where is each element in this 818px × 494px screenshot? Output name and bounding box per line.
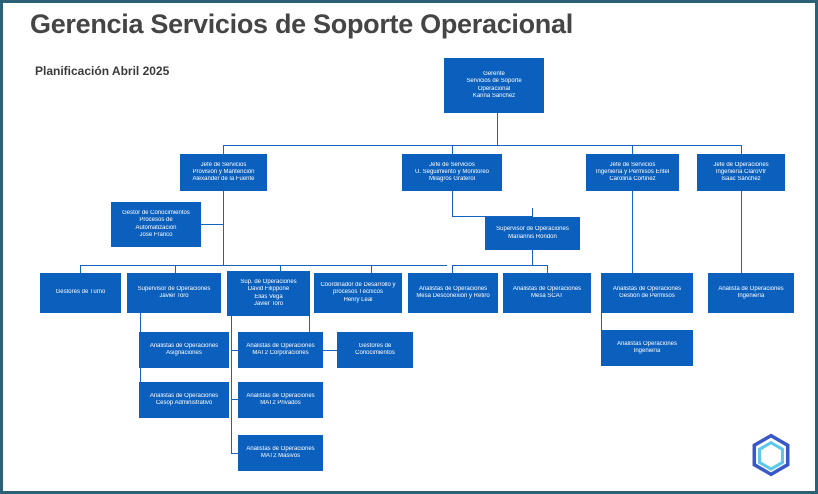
org-chart-canvas: Gerencia Servicios de Soporte Operaciona… [0, 0, 818, 494]
page-subtitle: Planificación Abril 2025 [35, 64, 169, 78]
node-jefe-operaciones-ingenieria-clarovtr[interactable]: Jefe de Operaciones Ingeniería ClaroVtr … [697, 154, 785, 191]
connector-provision-children-bus [80, 265, 447, 266]
hexagon-logo [749, 433, 793, 477]
node-gestor-conocimientos[interactable]: Gestor de Conocimientos Procesos de Auto… [111, 202, 201, 247]
connector-rondon-spine [532, 250, 533, 265]
node-line: Isaac Sánchez [701, 176, 781, 183]
connector-drop-gestores-turno [80, 265, 81, 273]
node-line: Javier Toro [131, 293, 217, 300]
node-line: Analistas de Operaciones [242, 446, 319, 453]
node-line: Analistas de Operaciones [242, 393, 319, 400]
node-line: Analistas de Operaciones [507, 286, 587, 293]
node-line: Ingeniería ClaroVtr [701, 169, 781, 176]
node-line: Provisión y Mantención [184, 169, 263, 176]
node-analistas-gestion-permisos[interactable]: Analistas de Operaciones Gestión de Perm… [601, 273, 693, 313]
node-line: Mariannis Rondon [489, 234, 576, 241]
connector-drop-clarovtr [741, 145, 742, 154]
connector-drop-provision [223, 145, 224, 154]
node-analistas-mat2-privados[interactable]: Analistas de Operaciones MAT2 Privados [238, 382, 323, 418]
connector-drop-coordinador [371, 265, 372, 273]
connector-drop-seguimiento [452, 145, 453, 154]
node-line: Asignaciones [143, 350, 225, 357]
connector-gestor-conocimientos-link [201, 224, 223, 225]
node-gestores-turno[interactable]: Gestores de Turno [40, 273, 121, 313]
node-line: Analistas Operaciones [605, 341, 689, 348]
node-line: Servicios de Soporte [448, 78, 540, 85]
node-analistas-asignaciones[interactable]: Analistas de Operaciones Asignaciones [139, 332, 229, 368]
node-line: Ingeniería [605, 348, 689, 355]
node-line: Mesa Desconexión y Retiro [412, 293, 494, 300]
connector-seguimiento-spine [452, 191, 453, 216]
node-line: Gestores de [341, 343, 409, 350]
node-line: Automatización [115, 225, 197, 232]
node-line: Conocimientos [341, 350, 409, 357]
connector-drop-mesa-desconexion [452, 265, 453, 273]
connector-provision-spine [223, 191, 224, 265]
node-jefe-seguimiento-monitoreo[interactable]: Jefe de Servicios U. Seguimiento y Monit… [402, 154, 502, 191]
connector-drop-mesa-scat [547, 265, 548, 273]
node-line: Analistas de Operaciones [605, 286, 689, 293]
node-analistas-cesop-administrativo[interactable]: Analistas de Operaciones Cesop Administr… [139, 382, 229, 418]
node-analistas-mat2-corporaciones[interactable]: Analistas de Operaciones MAT2 Corporacio… [238, 332, 323, 368]
node-line: Sup. de Operaciones [231, 279, 306, 286]
node-supervisor-operaciones-javier-toro[interactable]: Supervisor de Operaciones Javier Toro [127, 273, 221, 313]
node-line: Analistas de Operaciones [412, 286, 494, 293]
connector-rondon-children-bus [452, 265, 547, 266]
node-line: Henry Leal [318, 297, 398, 304]
node-gerente[interactable]: Gerente Servicios de Soporte Operacional… [444, 58, 544, 113]
node-line: Cesop Administrativo [143, 400, 225, 407]
node-line: Analista de Operaciones [712, 286, 790, 293]
node-jefe-provision-mantencion[interactable]: Jefe de Servicios Provisión y Mantención… [180, 154, 267, 191]
node-line: procesos Técnicos [318, 289, 398, 296]
node-line: Operacional [448, 86, 540, 93]
node-line: Analistas de Operaciones [242, 343, 319, 350]
node-line: Ingeniería [712, 293, 790, 300]
node-line: Jefe de Servicios [184, 162, 263, 169]
node-line: Jefe de Servicios [590, 162, 675, 169]
node-line: U. Seguimiento y Monitoreo [406, 169, 498, 176]
connector-mat2-spine [231, 316, 232, 454]
node-analistas-mat2-masivos[interactable]: Analistas de Operaciones MAT2 Masivos [238, 435, 323, 471]
node-supervisor-operaciones-rondon[interactable]: Supervisor de Operaciones Mariannis Rond… [485, 217, 580, 250]
connector-drop-entel [632, 145, 633, 154]
node-line: Procesos de [115, 217, 197, 224]
node-gestores-conocimientos[interactable]: Gestores de Conocimientos [337, 332, 413, 368]
connector-gerente-stem [497, 113, 498, 145]
node-jefe-ingenieria-permisos-entel[interactable]: Jefe de Servicios Ingeniería y Permisos … [586, 154, 679, 191]
node-line: Carolina Cortinez [590, 176, 675, 183]
node-line: Analistas de Operaciones [143, 393, 225, 400]
node-line: Gerente [448, 71, 540, 78]
node-line: MAT2 Privados [242, 400, 319, 407]
node-line: Analistas de Operaciones [143, 343, 225, 350]
node-sup-operaciones-equipo[interactable]: Sup. de Operaciones David Filippone Elia… [227, 271, 310, 316]
node-line: Ingeniería y Permisos Entel [590, 169, 675, 176]
node-line: Jefe de Servicios [406, 162, 498, 169]
node-line: Supervisor de Operaciones [131, 286, 217, 293]
node-analistas-operaciones-ingenieria-entel[interactable]: Analistas Operaciones Ingeniería [601, 330, 693, 366]
node-line: MAT2 Corporaciones [242, 350, 319, 357]
node-line: Karina Sánchez [448, 93, 540, 100]
connector-level2-bus [223, 145, 741, 146]
node-line: Jose Franco [115, 232, 197, 239]
node-line: Coordinador de Desarrollo y [318, 282, 398, 289]
connector-drop-supervisor-javier [175, 265, 176, 273]
node-line: Elias Vega [231, 294, 306, 301]
node-line: Supervisor de Operaciones [489, 226, 576, 233]
node-line: Milagros Graterol [406, 176, 498, 183]
node-line: Alexander de la Fuente [184, 176, 263, 183]
node-line: Gestor de Conocimientos [115, 210, 197, 217]
node-analistas-mesa-desconexion-retiro[interactable]: Analistas de Operaciones Mesa Desconexió… [408, 273, 498, 313]
node-line: David Filippone [231, 286, 306, 293]
node-line: MAT2 Masivos [242, 453, 319, 460]
connector-drop-rondon [532, 208, 533, 217]
node-line: Gestores de Turno [44, 289, 117, 296]
page-title: Gerencia Servicios de Soporte Operaciona… [30, 9, 573, 40]
node-coordinador-desarrollo-procesos-tecnicos[interactable]: Coordinador de Desarrollo y procesos Téc… [314, 273, 402, 313]
node-line: Gestión de Permisos [605, 293, 689, 300]
node-line: Jefe de Operaciones [701, 162, 781, 169]
node-analistas-mesa-scat[interactable]: Analistas de Operaciones Mesa SCAT [503, 273, 591, 313]
node-line: Javier Toro [231, 301, 306, 308]
node-line: Mesa SCAT [507, 293, 587, 300]
node-analista-operaciones-ingenieria-clarovtr[interactable]: Analista de Operaciones Ingeniería [708, 273, 794, 313]
